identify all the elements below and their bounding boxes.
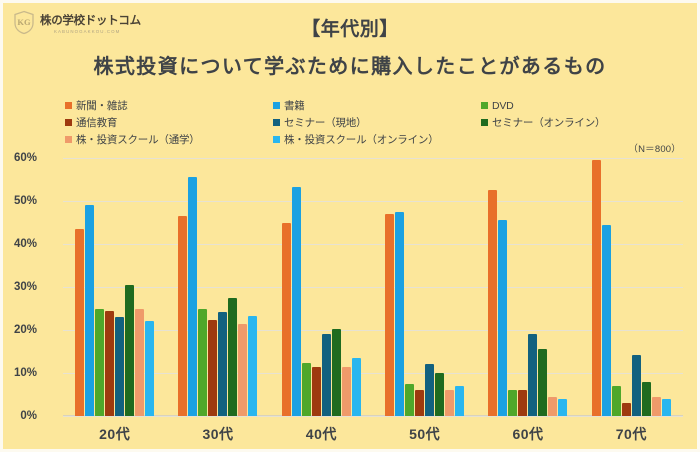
bar[interactable] <box>302 363 311 416</box>
y-axis-tick-label: 40% <box>0 238 37 250</box>
bar[interactable] <box>135 309 144 416</box>
legend-item[interactable]: セミナー（現地） <box>273 115 481 130</box>
legend-label: 株・投資スクール（オンライン） <box>284 132 439 147</box>
legend-item[interactable]: 株・投資スクール（オンライン） <box>273 132 481 147</box>
bar[interactable] <box>292 187 301 416</box>
bar[interactable] <box>498 220 507 416</box>
legend-label: DVD <box>492 100 514 112</box>
bar[interactable] <box>125 285 134 416</box>
bar[interactable] <box>632 355 641 416</box>
bar[interactable] <box>622 403 631 416</box>
legend-swatch-icon <box>65 119 72 126</box>
bar-group: 50代 <box>373 158 476 416</box>
legend-swatch-icon <box>65 102 72 109</box>
bar[interactable] <box>662 399 671 416</box>
y-axis-tick-label: 20% <box>0 324 37 336</box>
bar[interactable] <box>95 309 104 416</box>
gridline <box>63 416 683 417</box>
bar[interactable] <box>612 386 621 416</box>
bar[interactable] <box>145 321 154 416</box>
bar[interactable] <box>558 399 567 416</box>
chart-card: KG 株の学校ドットコム KABUNOGAKKOU.COM 【年代別】 株式投資… <box>0 0 700 452</box>
bar[interactable] <box>435 373 444 416</box>
y-axis-tick-label: 0% <box>0 410 37 422</box>
bar-groups: 20代30代40代50代60代70代 <box>63 158 683 416</box>
bar[interactable] <box>642 382 651 416</box>
bar[interactable] <box>425 364 434 416</box>
bar[interactable] <box>395 212 404 416</box>
bar[interactable] <box>652 397 661 416</box>
chart-legend: 新聞・雑誌書籍DVD通信教育セミナー（現地）セミナー（オンライン）株・投資スクー… <box>65 97 625 148</box>
bar[interactable] <box>178 216 187 416</box>
bar[interactable] <box>322 334 331 416</box>
x-axis-tick-label: 30代 <box>166 424 269 444</box>
x-axis-tick-label: 60代 <box>476 424 579 444</box>
bar[interactable] <box>592 160 601 416</box>
bar[interactable] <box>248 316 257 416</box>
bar[interactable] <box>445 390 454 416</box>
bar[interactable] <box>518 390 527 416</box>
legend-label: 新聞・雑誌 <box>76 98 128 113</box>
bar-group: 40代 <box>270 158 373 416</box>
bar[interactable] <box>548 397 557 416</box>
legend-item[interactable]: DVD <box>481 100 625 112</box>
legend-swatch-icon <box>273 102 280 109</box>
x-axis-tick-label: 40代 <box>270 424 373 444</box>
bar[interactable] <box>342 367 351 416</box>
bar[interactable] <box>455 386 464 416</box>
bar[interactable] <box>385 214 394 416</box>
legend-swatch-icon <box>481 102 488 109</box>
legend-label: 株・投資スクール（通学） <box>76 132 200 147</box>
bar[interactable] <box>75 229 84 416</box>
bar[interactable] <box>352 358 361 416</box>
bar[interactable] <box>538 349 547 416</box>
bar[interactable] <box>198 309 207 416</box>
bar-group: 30代 <box>166 158 269 416</box>
y-axis-tick-label: 50% <box>0 195 37 207</box>
y-axis-tick-label: 60% <box>0 152 37 164</box>
bar[interactable] <box>115 317 124 416</box>
x-axis-tick-label: 50代 <box>373 424 476 444</box>
legend-label: セミナー（オンライン） <box>492 115 605 130</box>
x-axis-tick-label: 20代 <box>63 424 166 444</box>
legend-item[interactable]: 株・投資スクール（通学） <box>65 132 273 147</box>
bar[interactable] <box>415 390 424 416</box>
bar[interactable] <box>508 390 517 416</box>
legend-swatch-icon <box>273 119 280 126</box>
bar[interactable] <box>405 384 414 416</box>
bar-group: 70代 <box>580 158 683 416</box>
bar[interactable] <box>208 320 217 416</box>
bar[interactable] <box>282 223 291 417</box>
x-axis-tick-label: 70代 <box>580 424 683 444</box>
chart-title: 【年代別】 <box>3 14 697 41</box>
bar[interactable] <box>312 367 321 416</box>
legend-label: 書籍 <box>284 98 305 113</box>
legend-label: セミナー（現地） <box>284 115 366 130</box>
bar[interactable] <box>85 205 94 416</box>
legend-item[interactable]: セミナー（オンライン） <box>481 115 625 130</box>
bar-group: 60代 <box>476 158 579 416</box>
bar[interactable] <box>188 177 197 417</box>
chart-subtitle: 株式投資について学ぶために購入したことがあるもの <box>3 50 697 79</box>
bar[interactable] <box>218 312 227 416</box>
bar[interactable] <box>105 311 114 416</box>
bar[interactable] <box>228 298 237 416</box>
bar[interactable] <box>488 190 497 416</box>
legend-label: 通信教育 <box>76 115 117 130</box>
sample-size-note: （N＝800） <box>628 141 681 155</box>
bar[interactable] <box>528 334 537 416</box>
plot-area: 60%50%40%30%20%10%0% 20代30代40代50代60代70代 <box>63 158 683 416</box>
bar-group: 20代 <box>63 158 166 416</box>
legend-item[interactable]: 通信教育 <box>65 115 273 130</box>
bar[interactable] <box>238 324 247 416</box>
bar[interactable] <box>602 225 611 416</box>
legend-item[interactable]: 新聞・雑誌 <box>65 98 273 113</box>
y-axis-tick-label: 30% <box>0 281 37 293</box>
y-axis-tick-label: 10% <box>0 367 37 379</box>
legend-swatch-icon <box>273 136 280 143</box>
bar[interactable] <box>332 329 341 416</box>
legend-swatch-icon <box>65 136 72 143</box>
legend-swatch-icon <box>481 119 488 126</box>
legend-item[interactable]: 書籍 <box>273 98 481 113</box>
